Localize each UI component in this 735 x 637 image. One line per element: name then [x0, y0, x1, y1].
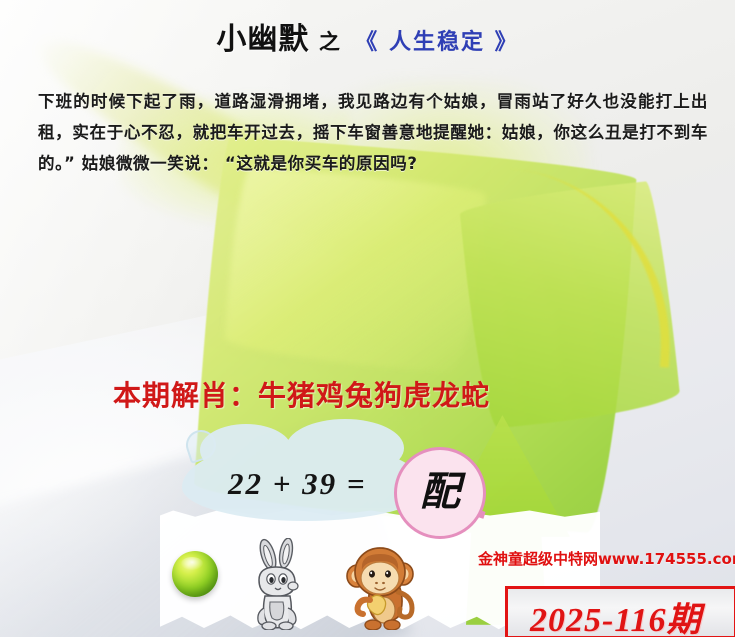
issue-period-text: 2025-116期 — [530, 592, 701, 637]
answer-character: 配 — [420, 472, 460, 512]
answer-bubble: 配 — [394, 447, 486, 539]
page-title: 小幽默 之 《 人生稳定 》 — [0, 14, 735, 58]
title-connector-text: 之 — [319, 30, 340, 54]
site-watermark: 金神童超级中特网www.174555.com — [478, 548, 735, 569]
green-lottery-ball-icon — [172, 551, 218, 597]
zodiac-prediction-line: 本期解肖：牛猪鸡兔狗虎龙蛇 — [113, 374, 490, 414]
monkey-cartoon-icon — [340, 540, 420, 630]
leaf-shape-right — [459, 180, 682, 430]
leaf-rib-yellow — [450, 166, 679, 367]
joke-body-text: 下班的时候下起了雨，道路湿滑拥堵，我见路边有个姑娘，冒雨站了好久也没能打上出租，… — [38, 86, 708, 179]
rabbit-cartoon-icon — [245, 538, 315, 630]
equation-expression: 22 + 39 = — [228, 466, 367, 502]
poster-canvas: 小幽默 之 《 人生稳定 》 下班的时候下起了雨，道路湿滑拥堵，我见路边有个姑娘… — [0, 0, 735, 637]
leaf-highlight — [224, 167, 487, 374]
title-main-text: 小幽默 — [216, 22, 309, 57]
issue-period-box: 2025-116期 — [505, 586, 735, 637]
title-subtitle-text: 《 人生稳定 》 — [355, 30, 518, 55]
